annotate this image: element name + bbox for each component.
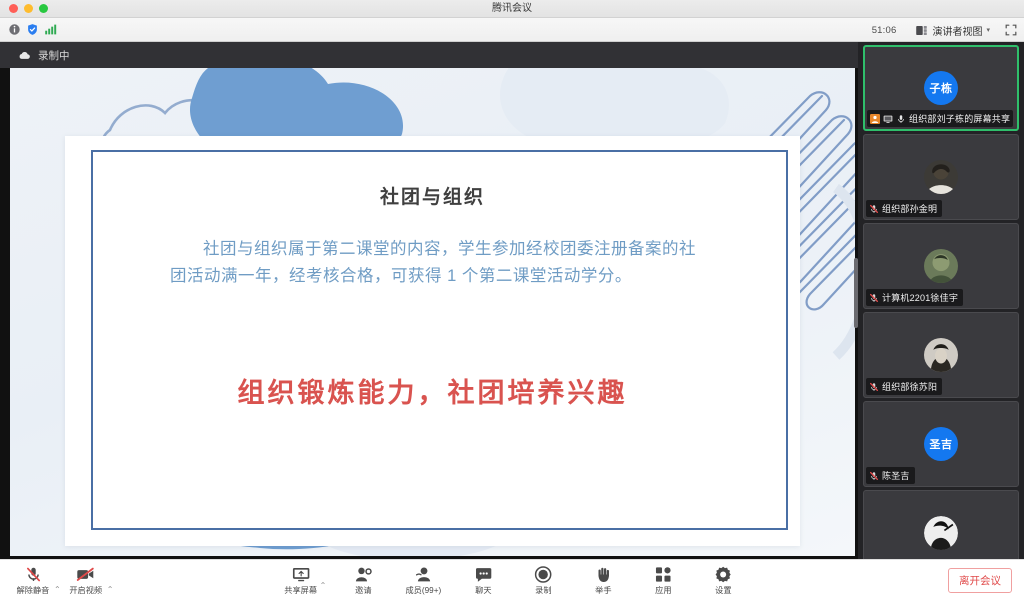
slide-accent-text: 组织锻炼能力，社团培养兴趣 (65, 371, 800, 410)
window-titlebar: 腾讯会议 (0, 0, 1024, 18)
shared-screen-stage[interactable]: 社团与组织 社团与组织属于第二课堂的内容，学生参加经校团委注册备案的社团活动满一… (0, 68, 858, 559)
leave-meeting-button[interactable]: 离开会议 (948, 568, 1012, 593)
avatar (924, 160, 958, 194)
participant-nameplate: 组织部徐苏阳 (866, 378, 942, 395)
share-screen-button[interactable]: 共享屏幕 (278, 565, 324, 596)
toolbar-right-group: 51:06 演讲者视图 ▾ (867, 18, 1018, 42)
participant-name: 组织部徐苏阳 (882, 380, 937, 393)
screen-share-icon (883, 114, 893, 124)
participant-name: 计算机2201徐佳宇 (882, 291, 958, 304)
video-options-chevron-icon[interactable]: ⌃ (107, 585, 114, 594)
meeting-body: 录制中 (0, 42, 1024, 559)
cloud-record-icon (18, 49, 31, 62)
host-icon (870, 114, 880, 124)
controls-center-group: 共享屏幕 ⌃ 邀请 (278, 560, 747, 599)
apps-label: 应用 (655, 584, 671, 596)
recording-label: 录制中 (38, 48, 70, 63)
fullscreen-icon[interactable] (1004, 23, 1018, 37)
screen-share-icon (291, 565, 310, 583)
avatar-photo-icon (924, 160, 958, 194)
members-button[interactable]: 成员(99+) (400, 565, 446, 596)
unmute-button[interactable]: 解除静音 (10, 565, 56, 596)
settings-button[interactable]: 设置 (700, 565, 746, 596)
unmute-label: 解除静音 (17, 584, 50, 596)
mic-options-chevron-icon[interactable]: ⌃ (54, 585, 61, 594)
chat-label: 聊天 (475, 584, 491, 596)
participant-tile[interactable]: 圣吉 陈圣吉 (863, 401, 1019, 487)
share-screen-group: 共享屏幕 ⌃ (278, 565, 327, 596)
avatar-photo-icon (924, 249, 958, 283)
apps-icon (655, 565, 672, 583)
participant-name: 陈圣吉 (882, 469, 910, 482)
info-icon[interactable] (8, 23, 21, 36)
slide-content-card: 社团与组织 社团与组织属于第二课堂的内容，学生参加经校团委注册备案的社团活动满一… (65, 136, 800, 546)
raise-hand-button[interactable]: 举手 (580, 565, 626, 596)
toolbar-status-icons (8, 23, 57, 36)
share-options-chevron-icon[interactable]: ⌃ (320, 581, 327, 590)
avatar-photo-icon (924, 516, 958, 550)
members-label: 成员(99+) (405, 584, 441, 596)
avatar: 子栋 (924, 71, 958, 105)
participant-nameplate: 计算机2201徐佳宇 (866, 289, 963, 306)
participant-nameplate: 组织部刘子栋的屏幕共享 (867, 110, 1013, 127)
network-signal-icon[interactable] (44, 23, 57, 36)
mic-muted-icon (869, 471, 879, 481)
mic-muted-icon (869, 293, 879, 303)
invite-label: 邀请 (355, 584, 371, 596)
settings-label: 设置 (715, 584, 731, 596)
mic-muted-icon (869, 382, 879, 392)
raise-hand-label: 举手 (595, 584, 611, 596)
record-label: 录制 (535, 584, 551, 596)
start-video-button[interactable]: 开启视频 (63, 565, 109, 596)
controls-right-group: 离开会议 (948, 560, 1012, 599)
members-icon (414, 565, 432, 583)
participant-tile[interactable]: 计算机2201徐佳宇 (863, 223, 1019, 309)
gear-icon (715, 565, 732, 583)
participant-rail[interactable]: 子栋 (858, 42, 1024, 559)
avatar: 圣吉 (924, 427, 958, 461)
mic-muted-icon (869, 204, 879, 214)
mic-muted-icon (25, 565, 42, 583)
presentation-slide: 社团与组织 社团与组织属于第二课堂的内容，学生参加经校团委注册备案的社团活动满一… (10, 68, 855, 556)
slide-body-text: 社团与组织属于第二课堂的内容，学生参加经校团委注册备案的社团活动满一年，经考核合… (170, 236, 710, 289)
participant-nameplate: 组织部孙金明 (866, 200, 942, 217)
window-title: 腾讯会议 (0, 0, 1024, 18)
recording-bar: 录制中 (0, 42, 858, 68)
tencent-meeting-window: 腾讯会议 51:06 (0, 0, 1024, 599)
avatar (924, 338, 958, 372)
raise-hand-icon (595, 565, 611, 583)
video-off-icon (76, 565, 95, 583)
view-mode-button[interactable]: 演讲者视图 ▾ (908, 20, 997, 41)
avatar (924, 516, 958, 550)
chevron-down-icon: ▾ (986, 26, 990, 34)
participant-tile[interactable]: 子栋 (863, 45, 1019, 131)
start-video-label: 开启视频 (69, 584, 102, 596)
record-icon (535, 565, 552, 583)
participant-tile[interactable]: 组织部孙金明 (863, 134, 1019, 220)
participant-tile[interactable]: 组织部徐苏阳 (863, 312, 1019, 398)
avatar (924, 249, 958, 283)
speaker-view-icon (915, 24, 928, 37)
mic-on-icon (896, 114, 906, 124)
app-toolbar: 51:06 演讲者视图 ▾ (0, 18, 1024, 42)
meeting-controls-bar: 解除静音 ⌃ 开启视频 ⌃ (0, 559, 1024, 599)
invite-icon (354, 565, 372, 583)
chat-button[interactable]: 聊天 (460, 565, 506, 596)
avatar-photo-icon (924, 338, 958, 372)
meeting-timer: 51:06 (867, 23, 902, 38)
shield-icon[interactable] (26, 23, 39, 36)
share-screen-label: 共享屏幕 (284, 584, 317, 596)
participant-name: 组织部孙金明 (882, 202, 937, 215)
chat-icon (474, 565, 492, 583)
invite-button[interactable]: 邀请 (340, 565, 386, 596)
participant-tile[interactable] (863, 490, 1019, 559)
record-button[interactable]: 录制 (520, 565, 566, 596)
view-mode-label: 演讲者视图 (932, 23, 982, 38)
participant-nameplate: 陈圣吉 (866, 467, 915, 484)
slide-title: 社团与组织 (65, 182, 800, 209)
participant-name: 组织部刘子栋的屏幕共享 (909, 112, 1010, 125)
controls-left-group: 解除静音 ⌃ 开启视频 ⌃ (10, 560, 113, 599)
apps-button[interactable]: 应用 (640, 565, 686, 596)
